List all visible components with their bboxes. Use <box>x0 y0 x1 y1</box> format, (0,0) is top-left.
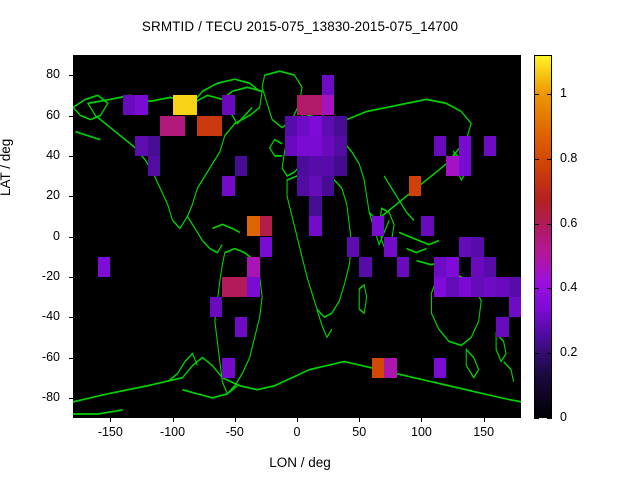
heatmap-cell <box>160 116 172 136</box>
heatmap-cell <box>247 216 259 236</box>
heatmap-cell <box>509 297 521 317</box>
heatmap-cell <box>421 216 433 236</box>
colorbar-tick-mark <box>547 288 552 289</box>
heatmap-cell <box>297 136 309 156</box>
heatmap-cell <box>210 297 222 317</box>
heatmap-cell <box>459 156 471 176</box>
x-axis-tick-mark <box>173 418 174 422</box>
heatmap-cell <box>235 277 247 297</box>
y-axis-tick-mark <box>69 317 73 318</box>
x-axis-label: LON / deg <box>0 455 600 470</box>
heatmap-cell <box>434 358 446 378</box>
heatmap-cell <box>235 317 247 337</box>
y-axis-tick-mark <box>69 398 73 399</box>
x-axis-tick-label: 0 <box>267 425 327 439</box>
heatmap-cell <box>98 257 110 277</box>
heatmap-cell <box>309 196 321 216</box>
x-axis-tick-label: -150 <box>80 425 140 439</box>
heatmap-cell <box>185 95 197 115</box>
colorbar-tick-mark <box>534 353 539 354</box>
y-axis-tick-mark <box>69 116 73 117</box>
colorbar-tick-label: 1 <box>560 86 567 100</box>
heatmap-cell <box>471 257 483 277</box>
y-axis-tick-label: -60 <box>20 350 60 364</box>
heatmap-cell <box>322 136 334 156</box>
heatmap-cell <box>372 216 384 236</box>
heatmap-cell <box>322 95 334 115</box>
heatmap-cell <box>446 257 458 277</box>
y-axis-tick-mark <box>69 75 73 76</box>
y-axis-tick-label: 60 <box>20 108 60 122</box>
x-axis-tick-mark <box>359 418 360 422</box>
x-axis-tick-mark <box>297 418 298 422</box>
heatmap-cell <box>309 95 321 115</box>
y-axis-tick-mark <box>69 358 73 359</box>
heatmap-cell <box>434 136 446 156</box>
heatmap-cell <box>334 136 346 156</box>
heatmap-cell <box>309 216 321 236</box>
heatmap-cell <box>222 358 234 378</box>
colorbar-tick-mark <box>547 418 552 419</box>
heatmap-cell <box>446 156 458 176</box>
heatmap-cell <box>372 358 384 378</box>
heatmap-cell <box>285 116 297 136</box>
colorbar-tick-mark <box>534 418 539 419</box>
heatmap-cell <box>471 237 483 257</box>
colorbar-tick-label: 0 <box>560 410 567 424</box>
heatmap-cell <box>322 176 334 196</box>
heatmap-cell <box>384 358 396 378</box>
x-axis-tick-mark <box>110 418 111 422</box>
heatmap-cell <box>397 257 409 277</box>
heatmap-cell <box>135 95 147 115</box>
x-axis-tick-label: 100 <box>391 425 451 439</box>
y-axis-tick-label: 40 <box>20 148 60 162</box>
heatmap-cell <box>173 116 185 136</box>
colorbar <box>534 55 552 418</box>
heatmap-cell <box>322 156 334 176</box>
colorbar-tick-mark <box>534 94 539 95</box>
heatmap-cell <box>260 237 272 257</box>
y-axis-tick-label: -40 <box>20 309 60 323</box>
colorbar-tick-mark <box>547 159 552 160</box>
colorbar-tick-label: 0.6 <box>560 216 577 230</box>
colorbar-tick-label: 0.8 <box>560 151 577 165</box>
heatmap-cell <box>135 136 147 156</box>
colorbar-tick-label: 0.2 <box>560 345 577 359</box>
heatmap-cell <box>509 277 521 297</box>
heatmap-cell <box>496 277 508 297</box>
heatmap-cell <box>334 156 346 176</box>
heatmap-cell <box>247 257 259 277</box>
heatmap-cell <box>148 136 160 156</box>
y-axis-tick-mark <box>69 237 73 238</box>
y-axis-tick-label: 20 <box>20 188 60 202</box>
heatmap-cell <box>222 277 234 297</box>
heatmap-cell <box>334 116 346 136</box>
heatmap-cell <box>434 257 446 277</box>
colorbar-tick-mark <box>534 288 539 289</box>
x-axis-tick-mark <box>421 418 422 422</box>
heatmap-cell <box>484 257 496 277</box>
heatmap-cell <box>459 136 471 156</box>
heatmap-cell <box>173 95 185 115</box>
y-axis-tick-mark <box>69 156 73 157</box>
colorbar-tick-mark <box>547 353 552 354</box>
heatmap-cell <box>197 116 209 136</box>
heatmap-cell <box>309 156 321 176</box>
y-axis-tick-label: -80 <box>20 390 60 404</box>
colorbar-tick-mark <box>534 224 539 225</box>
x-axis-tick-mark <box>235 418 236 422</box>
heatmap-cell <box>210 116 222 136</box>
heatmap-plot-area <box>73 55 521 418</box>
heatmap-cell <box>285 136 297 156</box>
heatmap-cell <box>297 116 309 136</box>
heatmap-cell <box>222 95 234 115</box>
x-axis-tick-label: -100 <box>143 425 203 439</box>
x-axis-tick-mark <box>484 418 485 422</box>
chart-title: SRMTID / TECU 2015-075_13830-2015-075_14… <box>0 19 600 34</box>
heatmap-cell <box>496 317 508 337</box>
heatmap-cell <box>235 156 247 176</box>
heatmap-cell <box>471 277 483 297</box>
y-axis-tick-label: -20 <box>20 269 60 283</box>
heatmap-cell <box>309 176 321 196</box>
heatmap-cell <box>484 136 496 156</box>
heatmap-cell <box>297 156 309 176</box>
y-axis-label: LAT / deg <box>0 139 13 196</box>
y-axis-tick-label: 80 <box>20 67 60 81</box>
colorbar-tick-label: 0.4 <box>560 280 577 294</box>
heatmap-cell <box>247 277 259 297</box>
heatmap-cell <box>297 176 309 196</box>
y-axis-tick-label: 0 <box>20 229 60 243</box>
heatmap-cell <box>309 136 321 156</box>
x-axis-tick-label: 150 <box>454 425 514 439</box>
colorbar-tick-mark <box>534 159 539 160</box>
heatmap-cell <box>148 156 160 176</box>
colorbar-gradient <box>535 56 551 417</box>
heatmap-cell <box>446 277 458 297</box>
heatmap-cell <box>347 237 359 257</box>
heatmap-cell <box>123 95 135 115</box>
heatmap-cell <box>359 257 371 277</box>
heatmap-cell <box>459 237 471 257</box>
heatmap-cell <box>309 116 321 136</box>
colorbar-tick-mark <box>547 224 552 225</box>
y-axis-tick-mark <box>69 196 73 197</box>
x-axis-tick-label: -50 <box>205 425 265 439</box>
heatmap-cell <box>434 277 446 297</box>
heatmap-cell <box>459 277 471 297</box>
heatmap-cell <box>384 237 396 257</box>
y-axis-tick-mark <box>69 277 73 278</box>
heatmap-cell <box>297 95 309 115</box>
heatmap-cell <box>222 176 234 196</box>
heatmap-cell <box>260 216 272 236</box>
heatmap-cell <box>484 277 496 297</box>
heatmap-cell <box>322 116 334 136</box>
heatmap-cell <box>322 75 334 95</box>
colorbar-tick-mark <box>547 94 552 95</box>
heatmap-cell <box>409 176 421 196</box>
x-axis-tick-label: 50 <box>329 425 389 439</box>
